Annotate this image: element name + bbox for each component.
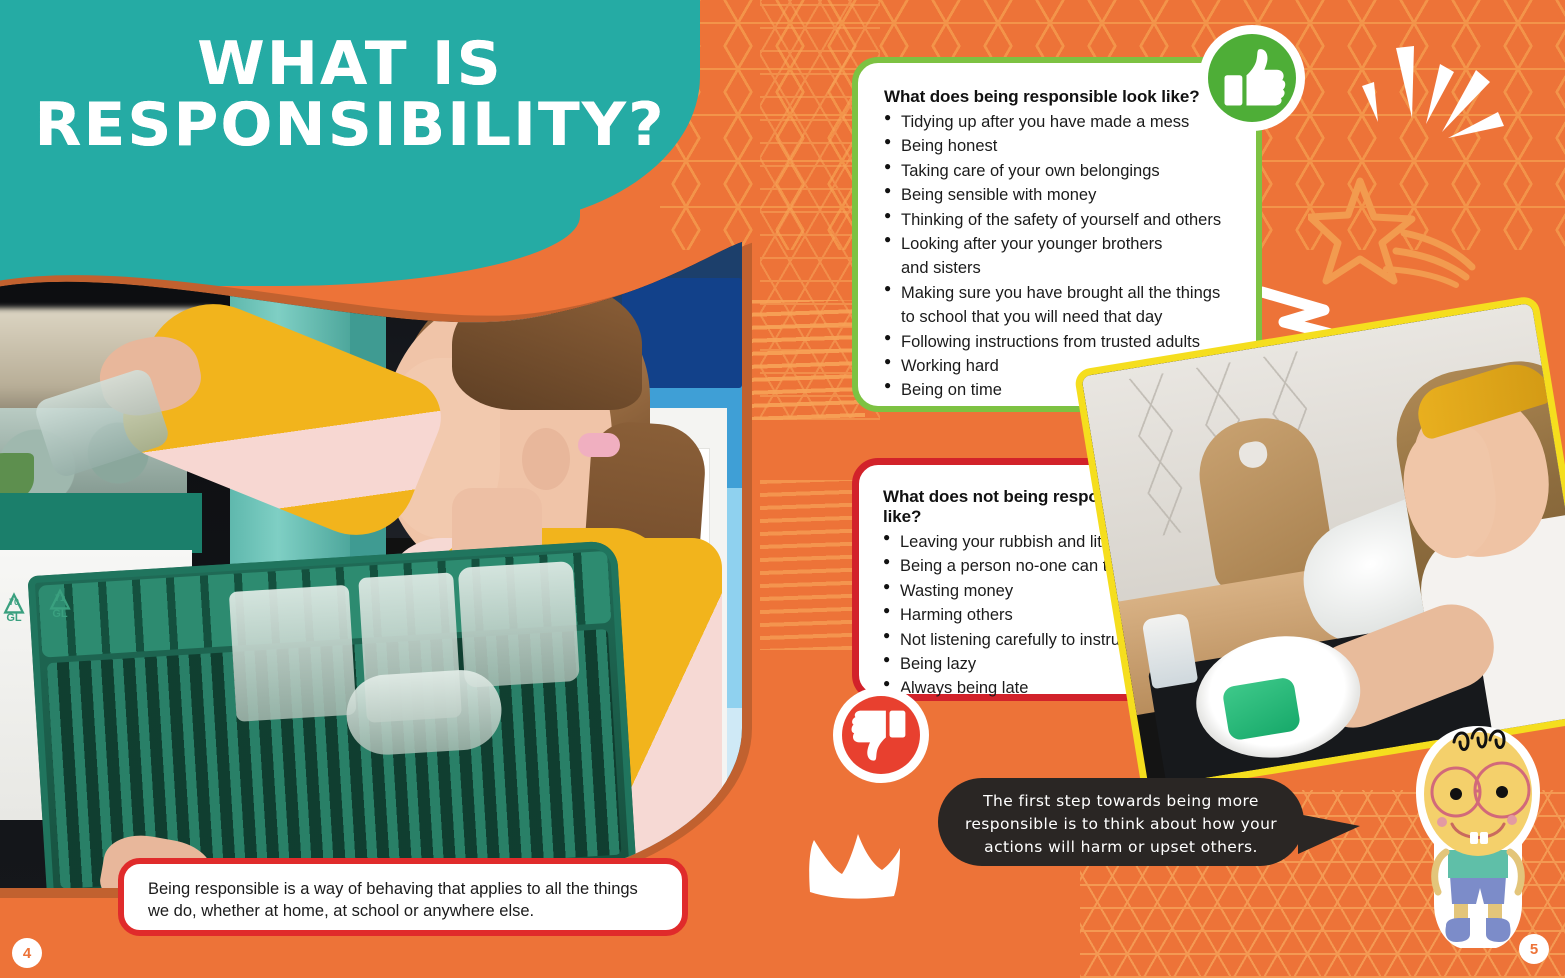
recycle-number: 70 — [0, 597, 36, 607]
wave-line-texture-upper — [745, 300, 865, 420]
recycle-symbol-71: △ 71 GL — [38, 586, 82, 620]
list-item: to school that you will need that day — [884, 305, 1230, 329]
recycle-code: GL — [6, 612, 21, 624]
crown-doodle — [800, 826, 910, 904]
title-line-2: RESPONSIBILITY? — [0, 95, 707, 156]
left-photo-wrapper: △ 70 GL △ 71 GL — [0, 238, 752, 898]
left-caption-box: Being responsible is a way of behaving t… — [118, 858, 688, 936]
page-title: WHAT IS RESPONSIBILITY? — [0, 34, 707, 156]
speech-line-3: actions will harm or upset others. — [938, 836, 1304, 859]
recycle-code: GL — [52, 608, 67, 620]
mascot-character — [1398, 718, 1558, 958]
list-item: Tidying up after you have made a mess — [884, 110, 1230, 134]
list-item: Being honest — [884, 134, 1230, 158]
burst-lines-doodle — [1348, 38, 1538, 158]
list-item: Making sure you have brought all the thi… — [884, 281, 1230, 305]
list-item: Looking after your younger brothers — [884, 232, 1230, 256]
left-photo-image: △ 70 GL △ 71 GL — [0, 238, 742, 888]
green-box-title: What does being responsible look like? — [884, 87, 1230, 107]
page-number-left-value: 4 — [23, 945, 31, 962]
thumbs-up-icon — [1208, 34, 1296, 122]
shooting-star-doodle — [1308, 175, 1483, 295]
speech-line-2: responsible is to think about how your — [938, 813, 1304, 836]
list-item: Thinking of the safety of yourself and o… — [884, 208, 1230, 232]
photo-girl-recycling: △ 70 GL △ 71 GL — [0, 238, 742, 888]
thumbs-down-glyph — [842, 696, 920, 774]
speech-bubble: The first step towards being more respon… — [938, 778, 1304, 866]
speech-line-1: The first step towards being more — [938, 790, 1304, 813]
page-number-right: 5 — [1519, 934, 1549, 964]
thumbs-down-icon — [842, 696, 920, 774]
page-number-left: 4 — [12, 938, 42, 968]
list-item: Being sensible with money — [884, 183, 1230, 207]
title-line-1: WHAT IS — [0, 34, 707, 95]
recycle-number: 71 — [38, 593, 82, 603]
recycle-symbol-70: △ 70 GL — [0, 590, 36, 624]
list-item: Taking care of your own belongings — [884, 159, 1230, 183]
wave-line-texture-lower — [760, 480, 865, 650]
list-item: and sisters — [884, 256, 1230, 280]
thumbs-up-glyph — [1208, 34, 1296, 122]
book-spread: WHAT IS RESPONSIBILITY? — [0, 0, 1565, 978]
page-number-right-value: 5 — [1530, 941, 1538, 958]
left-caption-text: Being responsible is a way of behaving t… — [148, 880, 638, 920]
list-item: Following instructions from trusted adul… — [884, 330, 1230, 354]
